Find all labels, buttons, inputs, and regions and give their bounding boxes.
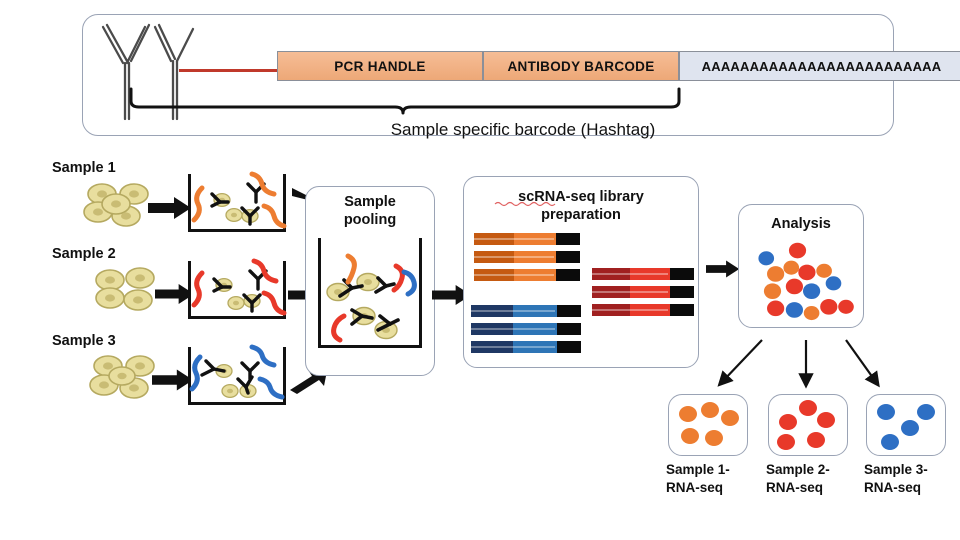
output-label-sample-1-line1: Sample 1- bbox=[666, 462, 752, 477]
output-dots-sample-3 bbox=[870, 398, 942, 452]
segment-poly-a-tail: AAAAAAAAAAAAAAAAAAAAAAAAA bbox=[679, 51, 960, 81]
staining-contents-sample-1 bbox=[190, 172, 286, 232]
diagram-canvas: PCR HANDLE ANTIBODY BARCODE AAAAAAAAAAAA… bbox=[0, 0, 960, 540]
arrow-sample-1-to-staining bbox=[148, 196, 192, 220]
output-label-sample-2-line1: Sample 2- bbox=[766, 462, 852, 477]
analysis-title: Analysis bbox=[742, 216, 860, 233]
hashtag-caption: Sample specific barcode (Hashtag) bbox=[283, 120, 763, 140]
sample-pooling-title-line2: pooling bbox=[310, 212, 430, 229]
sample-3-label: Sample 3 bbox=[52, 333, 116, 349]
arrow-library-to-analysis bbox=[706, 258, 740, 280]
output-label-sample-3-line2: RNA-seq bbox=[864, 480, 954, 495]
staining-contents-sample-2 bbox=[190, 259, 286, 319]
segment-antibody-barcode: ANTIBODY BARCODE bbox=[483, 51, 679, 81]
barcode-bracket bbox=[123, 83, 693, 119]
sample-2-label: Sample 2 bbox=[52, 246, 116, 262]
construct-panel: PCR HANDLE ANTIBODY BARCODE AAAAAAAAAAAA… bbox=[82, 14, 894, 136]
analysis-cluster bbox=[744, 238, 862, 324]
analysis-split-arrows bbox=[700, 338, 940, 394]
sample-1-label: Sample 1 bbox=[52, 160, 116, 176]
staining-contents-sample-3 bbox=[190, 345, 286, 405]
library-constructs-red bbox=[592, 268, 696, 320]
output-label-sample-2-line2: RNA-seq bbox=[766, 480, 852, 495]
library-title-line2: preparation bbox=[470, 207, 692, 224]
linker-line bbox=[179, 69, 279, 72]
sample-pooling-title-line1: Sample bbox=[310, 194, 430, 211]
spellcheck-squiggle bbox=[495, 201, 557, 206]
output-label-sample-3-line1: Sample 3- bbox=[864, 462, 954, 477]
library-constructs-blue bbox=[471, 305, 585, 357]
segment-pcr-handle: PCR HANDLE bbox=[277, 51, 483, 81]
library-constructs-orange bbox=[474, 233, 584, 285]
output-label-sample-1-line2: RNA-seq bbox=[666, 480, 752, 495]
pooling-contents bbox=[318, 236, 422, 348]
output-dots-sample-2 bbox=[772, 398, 844, 452]
output-dots-sample-1 bbox=[672, 398, 744, 452]
